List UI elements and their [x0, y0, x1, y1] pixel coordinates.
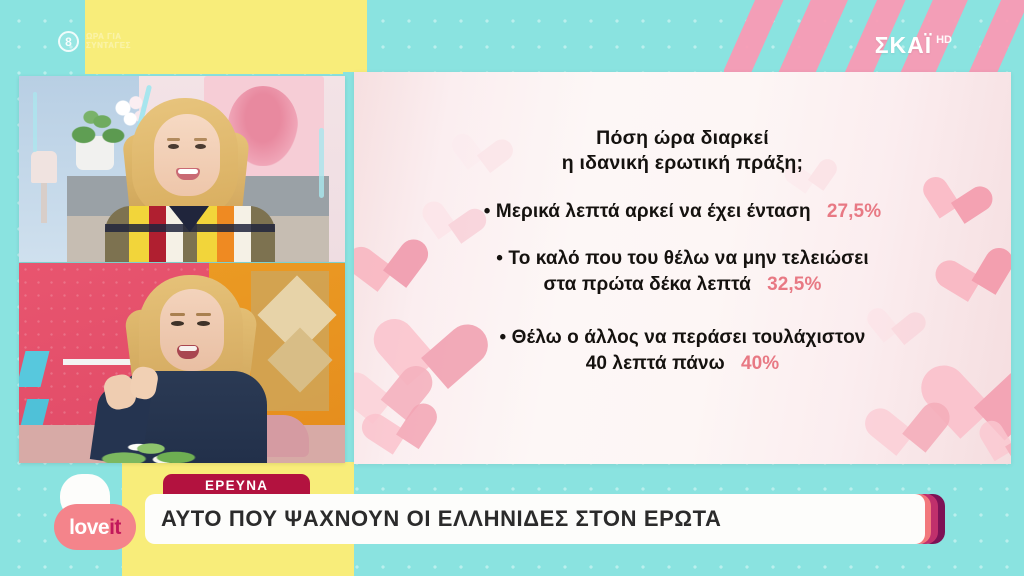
logo-word-love: love	[69, 516, 109, 539]
survey-answer-row: • Μερικά λεπτά αρκεί να έχει ένταση 27,5…	[354, 199, 1011, 225]
presenter-two-eyebrow-left	[170, 313, 185, 316]
headline-line-2: η ιδανική ερωτική πράξη;	[354, 151, 1011, 176]
banner-headline: ΑΥΤΟ ΠΟΥ ΨΑΧΝΟΥΝ ΟΙ ΕΛΛΗΝΙΔΕΣ ΣΤΟΝ ΕΡΩΤΑ	[145, 506, 722, 532]
presenter-two-eye-right	[197, 321, 210, 326]
video-panel-presenter-one	[19, 76, 345, 262]
answer-percent: 27,5%	[827, 201, 881, 222]
logo-coral-shape: loveit	[54, 504, 136, 550]
logo-wordmark: loveit	[69, 517, 121, 538]
survey-answer-row: • Θέλω ο άλλος να περάσει τουλάχιστον 40…	[354, 325, 1011, 377]
program-watermark-line2: ΣΥΝΤΑΓΕΣ	[86, 42, 131, 50]
studio-lamp-stem	[41, 183, 47, 223]
headline-line-1: Πόση ώρα διαρκεί	[354, 126, 1011, 151]
presenter-one-eye-left	[168, 144, 179, 149]
answer-text: • Μερικά λεπτά αρκεί να έχει ένταση	[484, 201, 811, 222]
answer-text-line2: στα πρώτα δέκα λεπτά	[544, 274, 751, 295]
presenter-one-face	[154, 114, 220, 196]
banner-body: ΑΥΤΟ ΠΟΥ ΨΑΧΝΟΥΝ ΟΙ ΕΛΛΗΝΙΔΕΣ ΣΤΟΝ ΕΡΩΤΑ	[145, 494, 925, 544]
studio-lamp	[31, 151, 57, 183]
answer-text-line2: 40 λεπτά πάνω	[586, 353, 725, 374]
presenter-one-eyebrow-left	[167, 138, 180, 141]
heart-icon	[359, 407, 421, 464]
survey-answer-row: • Το καλό που του θέλω να μην τελειώσει …	[354, 246, 1011, 298]
program-watermark: 8 ΩΡΑ ΓΙΑ ΣΥΝΤΑΓΕΣ	[58, 31, 131, 52]
presenter-two-teeth	[179, 346, 197, 351]
heart-icon	[863, 405, 927, 464]
answer-percent: 32,5%	[767, 274, 821, 295]
love-it-logo: loveit	[52, 474, 138, 554]
background-yellow-band-mid	[343, 0, 367, 72]
neon-strip-three	[319, 128, 324, 198]
presenter-one-eyebrow-right	[194, 138, 207, 141]
answer-text: • Το καλό που του θέλω να μην τελειώσει	[496, 248, 868, 269]
skai-logo-text: ΣΚΑΪ	[875, 32, 932, 59]
answer-percent: 40%	[741, 353, 779, 374]
survey-graphic-panel: Πόση ώρα διαρκεί η ιδανική ερωτική πράξη…	[354, 72, 1011, 464]
lower-third-banner: ΑΥΤΟ ΠΟΥ ΨΑΧΝΟΥΝ ΟΙ ΕΛΛΗΝΙΔΕΣ ΣΤΟΝ ΕΡΩΤΑ	[145, 494, 945, 544]
program-watermark-text: ΩΡΑ ΓΙΑ ΣΥΝΤΑΓΕΣ	[86, 33, 131, 50]
presenter-two-eye-left	[171, 321, 184, 326]
hd-badge: HD	[936, 34, 952, 46]
logo-word-it: it	[109, 516, 121, 539]
channel-logo: ΣΚΑΪ HD	[875, 32, 952, 59]
table-plant	[101, 435, 205, 463]
presenter-one-eye-right	[195, 144, 206, 149]
graphic-headline: Πόση ώρα διαρκεί η ιδανική ερωτική πράξη…	[354, 126, 1011, 177]
presenter-one-teeth	[178, 169, 198, 174]
channel-number-badge: 8	[58, 31, 79, 52]
presenter-two-eyebrow-right	[196, 313, 211, 316]
video-panel-presenter-two	[19, 263, 345, 463]
neon-strip-two	[33, 92, 37, 152]
answer-text: • Θέλω ο άλλος να περάσει τουλάχιστον	[500, 327, 866, 348]
